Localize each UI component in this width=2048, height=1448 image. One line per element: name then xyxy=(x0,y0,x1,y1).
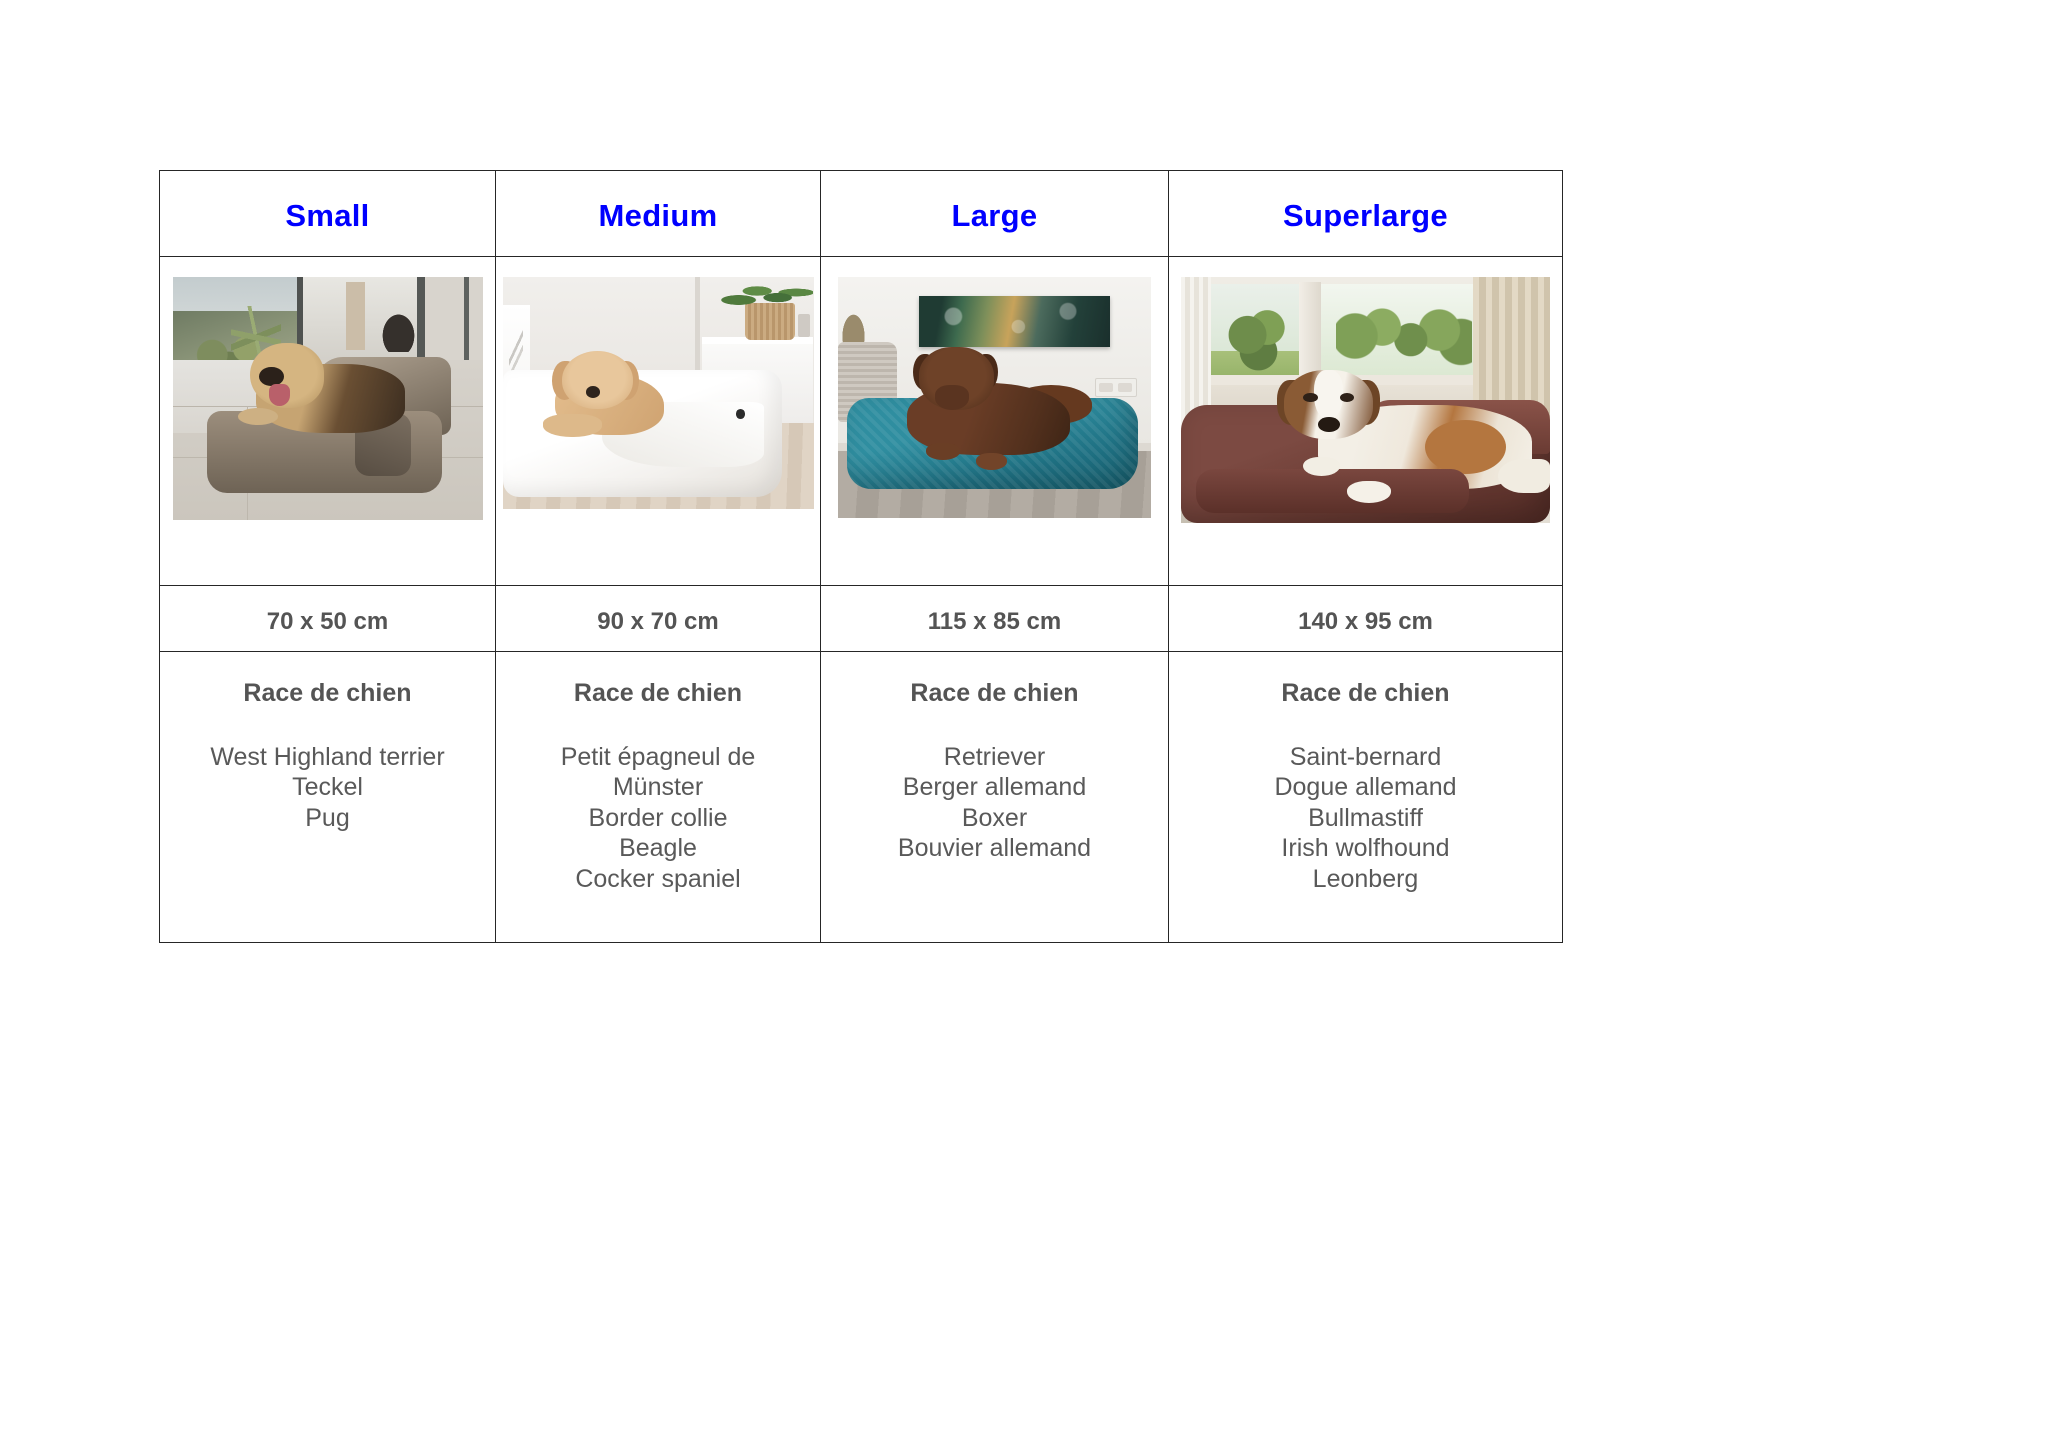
list-item: Pug xyxy=(160,803,495,834)
document-page: Small Medium Large Superlarge xyxy=(0,0,2048,1448)
table-breeds-row: Race de chien West Highland terrier Teck… xyxy=(160,652,1563,943)
photo-cell-large xyxy=(821,257,1169,586)
size-cell-medium: 90 x 70 cm xyxy=(496,586,821,652)
size-label: 115 x 85 cm xyxy=(821,604,1168,634)
dog-paw-left xyxy=(926,443,960,460)
bed-label-tag xyxy=(736,409,745,418)
wall-socket xyxy=(1095,378,1138,397)
list-item: Irish wolfhound xyxy=(1169,833,1562,864)
dog-muzzle xyxy=(935,385,969,409)
photo-small-terrier-on-brown-dog-bed xyxy=(173,277,483,520)
breed-section-title: Race de chien xyxy=(1169,680,1562,708)
list-item: Dogue allemand xyxy=(1169,772,1562,803)
dog-eye-left xyxy=(1303,393,1318,403)
breeds-cell-medium: Race de chien Petit épagneul de Münster … xyxy=(496,652,821,943)
size-cell-superlarge: 140 x 95 cm xyxy=(1169,586,1563,652)
dog-nose xyxy=(586,386,600,398)
list-item: West Highland terrier xyxy=(160,742,495,773)
breed-list-medium: Petit épagneul de Münster Border collie … xyxy=(496,742,820,895)
background-figure xyxy=(380,311,417,352)
list-item: Boxer xyxy=(821,803,1168,834)
photo-wrapper xyxy=(496,257,820,585)
photo-saint-bernard-on-brown-dog-bed xyxy=(1181,277,1550,523)
dog-coat-patch xyxy=(1425,420,1506,474)
size-cell-large: 115 x 85 cm xyxy=(821,586,1169,652)
garden-hedge xyxy=(1336,299,1473,373)
list-item: Bouvier allemand xyxy=(821,833,1168,864)
column-header-label: Medium xyxy=(496,196,820,231)
potted-fern xyxy=(720,279,813,309)
breed-section-title: Race de chien xyxy=(160,680,495,708)
breed-block: Race de chien Retriever Berger allemand … xyxy=(821,652,1168,864)
header-cell-superlarge: Superlarge xyxy=(1169,171,1563,257)
pillar xyxy=(346,282,365,350)
size-label: 70 x 50 cm xyxy=(160,604,495,634)
column-header-label: Large xyxy=(821,196,1168,231)
table-size-row: 70 x 50 cm 90 x 70 cm 115 x 85 cm 140 x … xyxy=(160,586,1563,652)
dog-face-blaze xyxy=(1314,370,1344,419)
breed-section-title: Race de chien xyxy=(821,680,1168,708)
list-item: Berger allemand xyxy=(821,772,1168,803)
garden-bush xyxy=(1222,302,1296,376)
list-item: Retriever xyxy=(821,742,1168,773)
size-cell-small: 70 x 50 cm xyxy=(160,586,496,652)
breed-section-title: Race de chien xyxy=(496,680,820,708)
header-cell-small: Small xyxy=(160,171,496,257)
breed-list-small: West Highland terrier Teckel Pug xyxy=(160,742,495,834)
photo-cockapoo-puppy-on-white-dog-bed xyxy=(503,277,814,509)
column-header-label: Superlarge xyxy=(1169,196,1562,231)
list-item: Bullmastiff xyxy=(1169,803,1562,834)
list-item: Cocker spaniel xyxy=(496,864,820,895)
dog-tail xyxy=(1498,459,1550,493)
list-item: Saint-bernard xyxy=(1169,742,1562,773)
dog-bed-size-table: Small Medium Large Superlarge xyxy=(159,170,1563,943)
header-cell-large: Large xyxy=(821,171,1169,257)
breed-list-superlarge: Saint-bernard Dogue allemand Bullmastiff… xyxy=(1169,742,1562,895)
list-item: Petit épagneul de xyxy=(496,742,820,773)
dog-tongue xyxy=(269,384,291,406)
list-item: Border collie xyxy=(496,803,820,834)
list-item: Teckel xyxy=(160,772,495,803)
list-item: Leonberg xyxy=(1169,864,1562,895)
size-label: 140 x 95 cm xyxy=(1169,604,1562,634)
dog-paws xyxy=(543,414,602,437)
photo-wrapper xyxy=(1169,257,1562,585)
candle xyxy=(798,314,810,337)
breed-list-large: Retriever Berger allemand Boxer Bouvier … xyxy=(821,742,1168,864)
photo-cell-small xyxy=(160,257,496,586)
dog-paw-rear xyxy=(1303,457,1340,477)
photo-wrapper xyxy=(160,257,495,585)
breed-block: Race de chien Petit épagneul de Münster … xyxy=(496,652,820,894)
breeds-cell-small: Race de chien West Highland terrier Teck… xyxy=(160,652,496,943)
list-item: Beagle xyxy=(496,833,820,864)
breeds-cell-large: Race de chien Retriever Berger allemand … xyxy=(821,652,1169,943)
list-item: Münster xyxy=(496,772,820,803)
photo-cell-superlarge xyxy=(1169,257,1563,586)
dog-head xyxy=(562,351,634,409)
breed-block: Race de chien Saint-bernard Dogue allema… xyxy=(1169,652,1562,894)
table-photo-row xyxy=(160,257,1563,586)
dog-nose xyxy=(1318,417,1340,432)
dog-bed-front-bolster xyxy=(1196,469,1469,513)
dog-paw-right xyxy=(976,453,1007,470)
photo-chocolate-labrador-on-teal-dog-bed xyxy=(838,277,1151,518)
photo-wrapper xyxy=(821,257,1168,585)
breed-block: Race de chien West Highland terrier Teck… xyxy=(160,652,495,833)
photo-cell-medium xyxy=(496,257,821,586)
column-header-label: Small xyxy=(160,196,495,231)
breeds-cell-superlarge: Race de chien Saint-bernard Dogue allema… xyxy=(1169,652,1563,943)
table-header-row: Small Medium Large Superlarge xyxy=(160,171,1563,257)
plant-stems xyxy=(838,306,869,345)
size-label: 90 x 70 cm xyxy=(496,604,820,634)
wall-artwork-highlights xyxy=(919,296,1110,347)
header-cell-medium: Medium xyxy=(496,171,821,257)
